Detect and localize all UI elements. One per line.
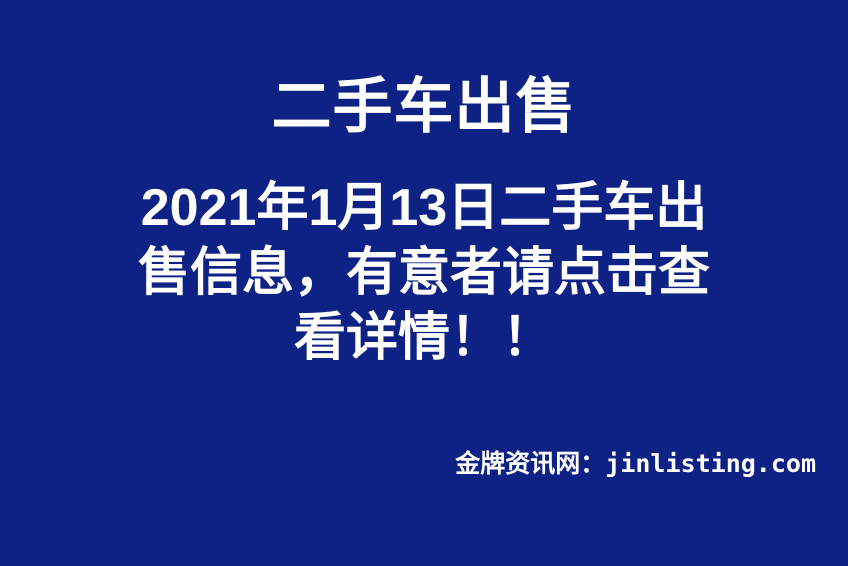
footer-credit: 金牌资讯网：jinlisting.com: [455, 448, 816, 480]
used-car-sale-poster: 二手车出售 2021年1月13日二手车出 售信息，有意者请点击查 看详情！！ 金…: [0, 0, 848, 566]
site-url-label: jinlisting.com: [605, 449, 816, 478]
site-name-label: 金牌资讯网：: [455, 450, 605, 478]
poster-headline: 二手车出售: [0, 74, 848, 140]
poster-body-copy: 2021年1月13日二手车出 售信息，有意者请点击查 看详情！！: [0, 176, 848, 371]
body-copy-line-2: 售信息，有意者请点击查: [0, 241, 848, 306]
body-copy-line-3: 看详情！！: [0, 306, 848, 371]
body-copy-line-1: 2021年1月13日二手车出: [0, 176, 848, 241]
